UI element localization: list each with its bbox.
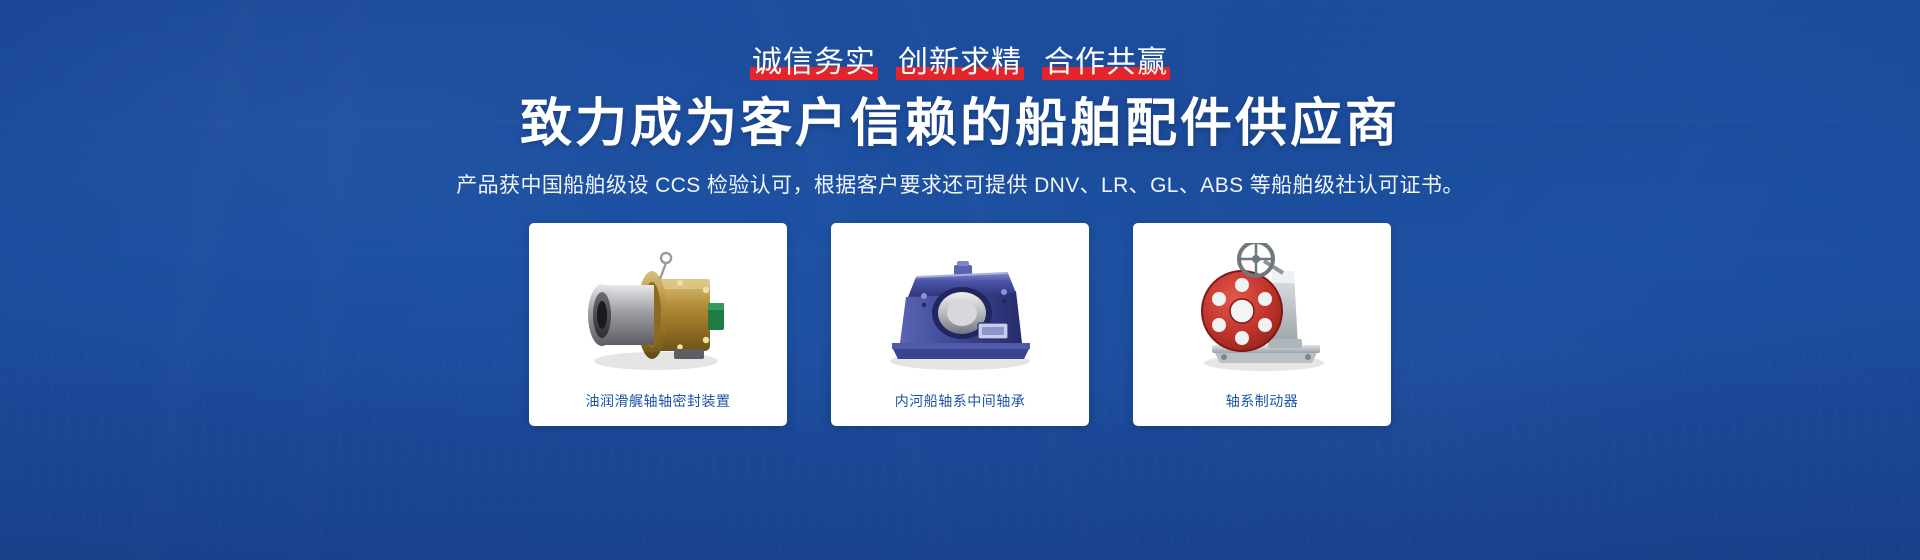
product-caption: 油润滑艉轴轴密封装置 bbox=[586, 391, 731, 413]
shaft-brake-photo-icon bbox=[1160, 243, 1365, 383]
tagline-segment-2: 创新求精 bbox=[896, 48, 1024, 78]
product-card[interactable]: 油润滑艉轴轴密封装置 bbox=[529, 223, 787, 426]
product-image bbox=[839, 235, 1081, 391]
intermediate-shaft-bearing-photo-icon bbox=[858, 243, 1063, 383]
product-caption: 轴系制动器 bbox=[1226, 391, 1299, 413]
page-title: 致力成为客户信赖的船舶配件供应商 bbox=[520, 95, 1400, 153]
tagline-segment-2-text: 创新求精 bbox=[898, 46, 1022, 79]
product-caption: 内河船轴系中间轴承 bbox=[895, 391, 1026, 413]
product-card[interactable]: 轴系制动器 bbox=[1133, 223, 1391, 426]
tagline-segment-1-text: 诚信务实 bbox=[752, 46, 876, 79]
tagline-segment-1: 诚信务实 bbox=[750, 48, 878, 78]
product-image bbox=[537, 235, 779, 391]
product-image bbox=[1141, 235, 1383, 391]
tagline: 诚信务实 创新求精 合作共赢 bbox=[750, 48, 1170, 78]
stern-shaft-oil-seal-photo-icon bbox=[556, 243, 761, 383]
hero-banner: 诚信务实 创新求精 合作共赢 致力成为客户信赖的船舶配件供应商 产品获中国船舶级… bbox=[0, 0, 1920, 560]
banner-content: 诚信务实 创新求精 合作共赢 致力成为客户信赖的船舶配件供应商 产品获中国船舶级… bbox=[0, 0, 1920, 560]
banner-subtitle: 产品获中国船舶级设 CCS 检验认可，根据客户要求还可提供 DNV、LR、GL、… bbox=[456, 169, 1464, 199]
tagline-segment-3-text: 合作共赢 bbox=[1044, 46, 1168, 79]
product-card-list: 油润滑艉轴轴密封装置 bbox=[529, 223, 1391, 426]
product-card[interactable]: 内河船轴系中间轴承 bbox=[831, 223, 1089, 426]
tagline-segment-3: 合作共赢 bbox=[1042, 48, 1170, 78]
